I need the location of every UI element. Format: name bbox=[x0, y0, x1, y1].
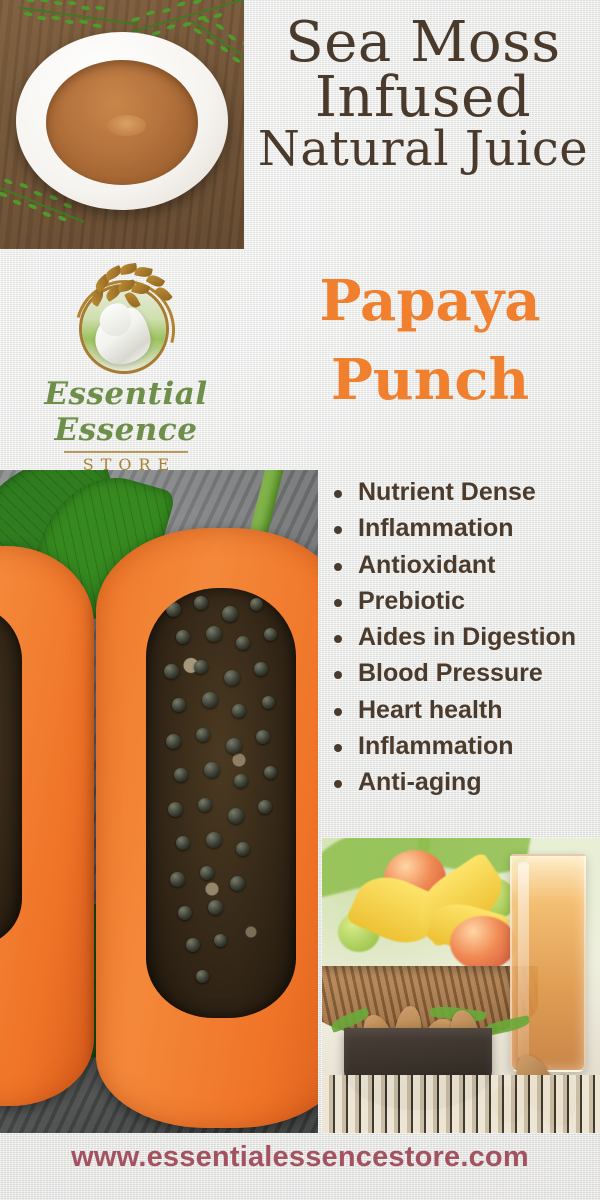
list-item: Aides in Digestion bbox=[330, 619, 600, 655]
halved-papaya-photo bbox=[0, 470, 318, 1133]
list-item: Nutrient Dense bbox=[330, 474, 600, 510]
headline-line-2: Infused bbox=[250, 71, 596, 126]
juice-glass bbox=[510, 854, 586, 1072]
headline-line-1: Sea Moss bbox=[250, 16, 596, 71]
logo-mark bbox=[61, 262, 191, 374]
woven-placemat bbox=[322, 1075, 600, 1133]
headline-line-3: Natural Juice bbox=[250, 126, 596, 173]
product-name-line-2: Punch bbox=[262, 351, 598, 410]
product-name: Papaya Punch bbox=[262, 272, 598, 411]
page-title: Sea Moss Infused Natural Juice bbox=[250, 16, 596, 173]
brand-logo: Essential Essence STORE bbox=[8, 262, 244, 474]
website-url[interactable]: www.essentialessencestore.com bbox=[71, 1141, 529, 1174]
brand-name: Essential Essence bbox=[8, 376, 244, 448]
product-name-line-1: Papaya bbox=[262, 272, 598, 331]
list-item: Prebiotic bbox=[330, 583, 600, 619]
tamarind-and-juice-photo bbox=[322, 838, 600, 1133]
white-bowl bbox=[16, 32, 228, 210]
list-item: Inflammation bbox=[330, 728, 600, 764]
list-item: Blood Pressure bbox=[330, 655, 600, 691]
tamarind-paste bbox=[46, 60, 199, 185]
apple-fruit bbox=[450, 916, 516, 970]
papaya-seed-cavity-left bbox=[0, 606, 22, 946]
list-item: Anti-aging bbox=[330, 764, 600, 800]
papaya-seed-cavity-right bbox=[146, 588, 296, 1018]
tamarind-paste-bowl-photo bbox=[0, 0, 244, 249]
benefits-list: Nutrient Dense Inflammation Antioxidant … bbox=[330, 474, 600, 800]
list-item: Inflammation bbox=[330, 510, 600, 546]
brand-suffix: STORE bbox=[8, 455, 244, 474]
list-item: Heart health bbox=[330, 692, 600, 728]
footer-bar: www.essentialessencestore.com bbox=[0, 1133, 600, 1200]
brand-divider bbox=[64, 451, 188, 453]
list-item: Antioxidant bbox=[330, 547, 600, 583]
